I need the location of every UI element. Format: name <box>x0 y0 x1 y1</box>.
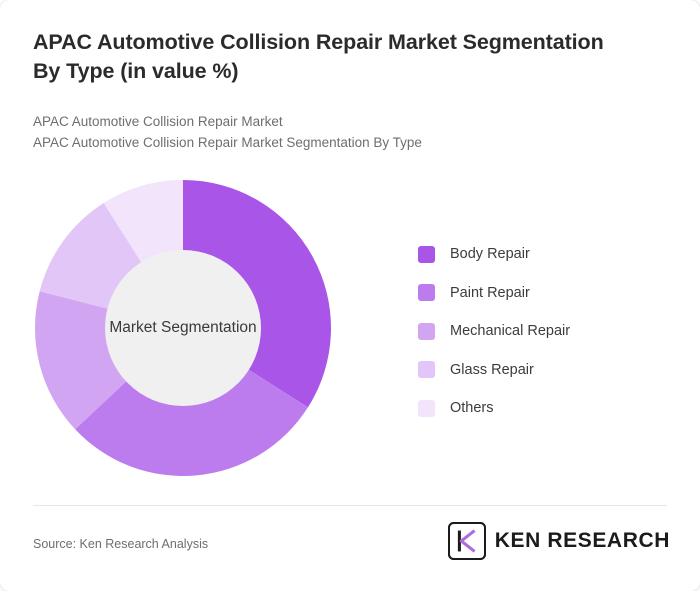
legend-item[interactable]: Glass Repair <box>418 351 678 390</box>
legend-item[interactable]: Others <box>418 389 678 428</box>
legend-label: Mechanical Repair <box>450 323 570 339</box>
legend-label: Body Repair <box>450 246 530 262</box>
footer-divider <box>33 505 667 506</box>
legend-label: Paint Repair <box>450 285 530 301</box>
brand-name: KEN RESEARCH <box>495 529 670 553</box>
ken-research-mark-icon <box>448 522 486 560</box>
legend-item[interactable]: Paint Repair <box>418 274 678 313</box>
chart-card: APAC Automotive Collision Repair Market … <box>0 0 700 591</box>
source-note: Source: Ken Research Analysis <box>33 537 208 551</box>
legend-swatch-icon <box>418 400 435 417</box>
subtitle-line-2: APAC Automotive Collision Repair Market … <box>33 133 633 154</box>
legend-label: Others <box>450 400 494 416</box>
donut-svg <box>33 173 333 483</box>
legend-label: Glass Repair <box>450 362 534 378</box>
legend-swatch-icon <box>418 323 435 340</box>
legend-swatch-icon <box>418 361 435 378</box>
donut-chart: Market Segmentation <box>33 173 333 483</box>
legend-item[interactable]: Body Repair <box>418 235 678 274</box>
subtitle-block: APAC Automotive Collision Repair Market … <box>33 112 633 154</box>
brand-logo: KEN RESEARCH <box>448 522 670 560</box>
donut-hole <box>105 250 261 406</box>
subtitle-line-1: APAC Automotive Collision Repair Market <box>33 112 633 133</box>
legend-swatch-icon <box>418 284 435 301</box>
chart-area: Market Segmentation Body RepairPaint Rep… <box>0 165 700 490</box>
chart-legend: Body RepairPaint RepairMechanical Repair… <box>418 235 678 428</box>
legend-swatch-icon <box>418 246 435 263</box>
legend-item[interactable]: Mechanical Repair <box>418 312 678 351</box>
page-title: APAC Automotive Collision Repair Market … <box>33 28 633 86</box>
